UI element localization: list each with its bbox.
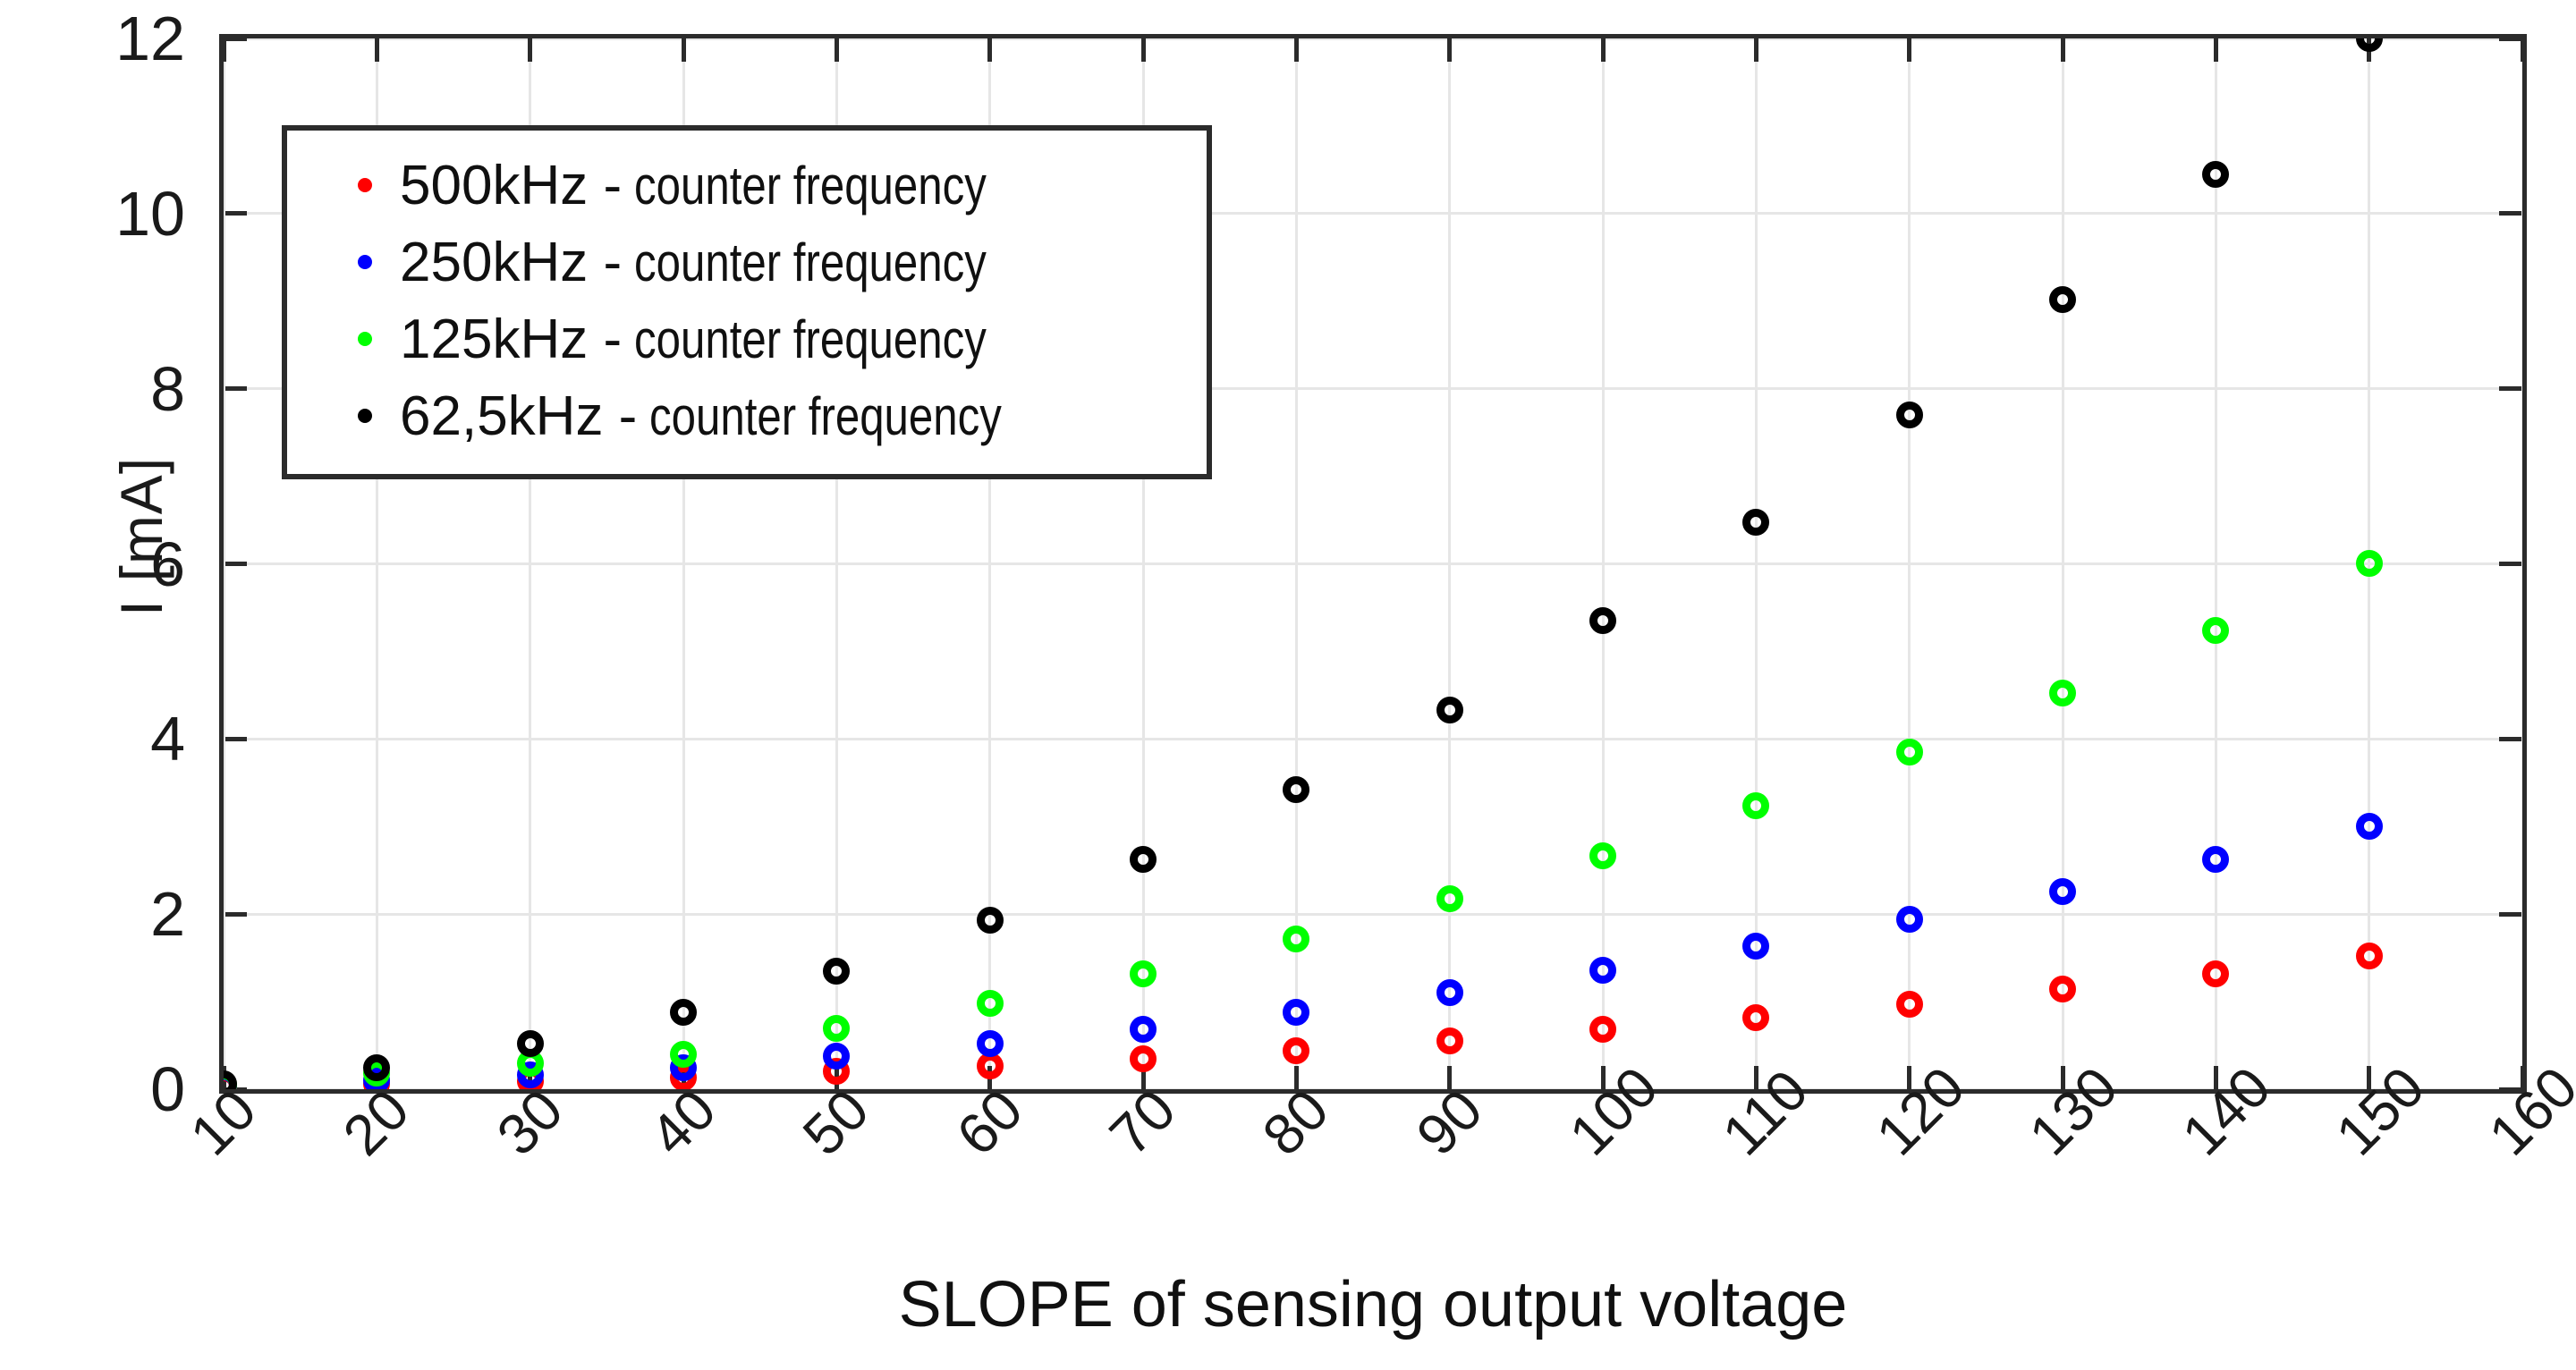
y-axis-tick-label: 8 — [150, 353, 185, 425]
data-point — [2202, 161, 2229, 188]
legend-frequency-label: 62,5kHz - — [400, 385, 637, 448]
data-point — [1283, 776, 1309, 803]
gridline-vertical — [1755, 38, 1758, 1089]
gridline-vertical — [2215, 38, 2217, 1089]
data-point — [1283, 999, 1309, 1026]
y-axis-tick-label: 12 — [115, 3, 185, 74]
x-axis-tick — [835, 38, 839, 62]
data-point — [823, 1043, 850, 1070]
data-point — [2356, 813, 2383, 840]
data-point — [2356, 943, 2383, 969]
data-point — [1742, 1004, 1769, 1031]
legend-item[interactable]: 125kHz -counter frequency — [287, 300, 1207, 377]
circle-marker-icon — [358, 409, 372, 423]
data-point — [1742, 792, 1769, 819]
y-axis-tick — [2499, 38, 2522, 41]
data-point — [1436, 697, 1463, 723]
data-point — [1742, 933, 1769, 960]
x-axis-tick — [1907, 38, 1911, 62]
data-point — [2049, 976, 2076, 1002]
y-axis-tick — [224, 562, 247, 566]
x-axis-tick — [1294, 38, 1299, 62]
data-point — [2202, 617, 2229, 644]
data-point — [1589, 607, 1616, 634]
data-point — [1436, 979, 1463, 1006]
legend-description-label: counter frequency — [634, 155, 987, 216]
data-point — [1130, 1045, 1157, 1072]
circle-marker-icon — [358, 255, 372, 269]
legend-description-label: counter frequency — [634, 232, 987, 293]
legend-description-label: counter frequency — [649, 385, 1002, 447]
y-axis-tick-label: 0 — [150, 1053, 185, 1125]
y-axis-tick — [224, 912, 247, 917]
gridline-horizontal — [224, 38, 2522, 40]
x-axis-tick — [987, 38, 992, 62]
y-axis-tick-label: 10 — [115, 178, 185, 249]
data-point — [1896, 906, 1923, 933]
y-axis-tick — [2499, 211, 2522, 216]
gridline-horizontal — [224, 913, 2522, 916]
gridline-horizontal — [224, 562, 2522, 565]
y-axis-tick-labels: 024681012 — [0, 34, 201, 1094]
y-axis-tick-label: 4 — [150, 703, 185, 774]
x-axis-tick — [528, 38, 532, 62]
data-point — [2356, 38, 2383, 52]
gridline-vertical — [2062, 38, 2064, 1089]
data-point — [1896, 991, 1923, 1018]
legend-item[interactable]: 500kHz -counter frequency — [287, 147, 1207, 224]
chart-figure: I [mA] 024681012 10203040506070809010011… — [0, 0, 2576, 1370]
gridline-horizontal — [224, 738, 2522, 740]
gridline-vertical — [2521, 38, 2523, 1089]
data-point — [1896, 402, 1923, 428]
data-point — [977, 990, 1004, 1017]
legend-marker-4 — [330, 409, 400, 423]
data-point — [823, 1015, 850, 1042]
legend-description-label: counter frequency — [634, 309, 987, 370]
data-point — [1589, 1016, 1616, 1043]
legend-marker-2 — [330, 255, 400, 269]
x-axis-tick — [1141, 38, 1146, 62]
data-point — [1436, 885, 1463, 912]
chart-legend: 500kHz -counter frequency250kHz -counter… — [282, 125, 1212, 479]
x-axis-tick — [682, 38, 686, 62]
circle-marker-icon — [358, 332, 372, 346]
data-point — [1589, 957, 1616, 984]
data-point — [670, 1041, 697, 1068]
y-axis-tick — [224, 38, 247, 41]
legend-marker-1 — [330, 178, 400, 192]
x-axis-tick — [2214, 38, 2218, 62]
x-axis-tick — [2521, 38, 2523, 62]
gridline-horizontal — [224, 1088, 2522, 1090]
data-point — [1130, 1016, 1157, 1043]
data-point — [517, 1030, 544, 1057]
legend-frequency-label: 500kHz - — [400, 154, 622, 217]
data-point — [1130, 846, 1157, 873]
y-axis-tick — [224, 386, 247, 391]
x-axis-tick — [1754, 38, 1758, 62]
data-point — [1589, 842, 1616, 869]
data-point — [1283, 926, 1309, 952]
data-point — [1742, 509, 1769, 536]
x-axis-tick — [1601, 38, 1606, 62]
data-point — [977, 907, 1004, 934]
data-point — [1283, 1037, 1309, 1064]
data-point — [2049, 286, 2076, 313]
data-point — [977, 1030, 1004, 1057]
x-axis-tick — [375, 38, 379, 62]
y-axis-tick — [2499, 912, 2522, 917]
circle-marker-icon — [358, 178, 372, 192]
y-axis-tick — [2499, 562, 2522, 566]
data-point — [1130, 960, 1157, 987]
y-axis-tick-label: 6 — [150, 529, 185, 600]
legend-frequency-label: 125kHz - — [400, 308, 622, 371]
gridline-vertical — [1448, 38, 1451, 1089]
y-axis-tick — [224, 737, 247, 741]
data-point — [363, 1054, 390, 1081]
y-axis-tick — [224, 211, 247, 216]
gridline-vertical — [224, 38, 225, 1089]
legend-frequency-label: 250kHz - — [400, 231, 622, 294]
legend-item[interactable]: 62,5kHz -counter frequency — [287, 377, 1207, 454]
x-axis-tick-labels: 102030405060708090100110120130140150160 — [219, 1098, 2527, 1277]
data-point — [2202, 960, 2229, 987]
y-axis-tick — [2499, 386, 2522, 391]
data-point — [823, 958, 850, 985]
data-point — [2049, 680, 2076, 706]
data-point — [2356, 550, 2383, 577]
data-point — [1436, 1027, 1463, 1054]
x-axis-label: SLOPE of sensing output voltage — [219, 1268, 2527, 1341]
gridline-vertical — [1602, 38, 1605, 1089]
legend-item[interactable]: 250kHz -counter frequency — [287, 224, 1207, 300]
x-axis-tick — [2061, 38, 2065, 62]
y-axis-tick-label: 2 — [150, 878, 185, 950]
legend-marker-3 — [330, 332, 400, 346]
data-point — [670, 999, 697, 1026]
data-point — [1896, 739, 1923, 765]
data-point — [2202, 846, 2229, 873]
data-point — [2049, 878, 2076, 905]
x-axis-tick — [1447, 38, 1452, 62]
x-axis-tick — [224, 38, 226, 62]
y-axis-tick — [2499, 737, 2522, 741]
